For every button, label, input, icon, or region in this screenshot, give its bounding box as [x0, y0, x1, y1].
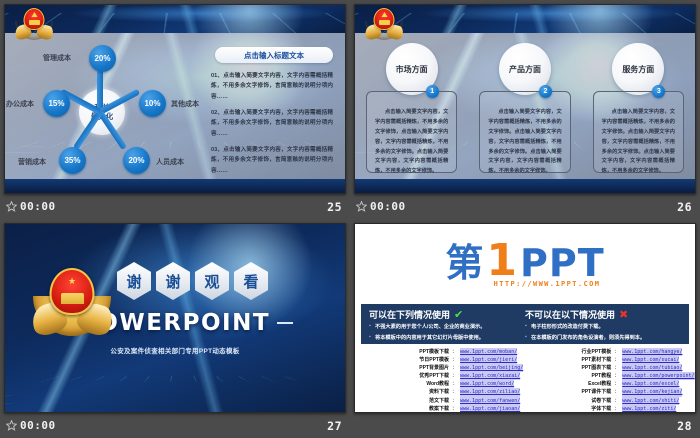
slide-27[interactable]: ★ 谢 谢 观 看 POWERPOINT 公安及案件侦查相关部门专用PPT动态模… — [4, 223, 346, 413]
slide-thumbnail-grid: 利益 最大化 20% 管理成本 10% 其他成本 20% 人员成本 35% 营销… — [0, 0, 700, 438]
link-row[interactable]: 范文下载：www.1ppt.com/fanwen/ — [405, 397, 523, 405]
slide-footer: 00:00 27 — [0, 413, 350, 438]
link-separator: ： — [611, 372, 622, 380]
link-url[interactable]: www.1ppt.com/excel/ — [622, 380, 679, 388]
check-icon: ✔ — [454, 308, 463, 321]
link-row[interactable]: 资料下载：www.1ppt.com/ziliao/ — [405, 388, 523, 396]
column-panel: 点击输入简要文字内容，文字内容需概括精炼，不用多余的文字修饰。点击输入简要文字内… — [479, 91, 570, 173]
link-row[interactable]: 试卷下载：www.1ppt.com/shiti/ — [567, 397, 694, 405]
link-row[interactable]: PPT素材下载：www.1ppt.com/sucai/ — [567, 356, 694, 364]
logo-part-3: PPT — [520, 246, 605, 281]
link-separator: ： — [611, 405, 622, 413]
spoke-top — [97, 70, 103, 112]
denied-heading-row: 不可以在以下情况使用 ✖ — [525, 308, 681, 321]
slide-number: 25 — [327, 200, 342, 214]
link-label: 优秀PPT下载 — [405, 372, 449, 380]
list-item: 将本模板中的内容用于其它幻灯片母版中使用。 — [369, 335, 525, 343]
link-row[interactable]: PPT图表下载：www.1ppt.com/tubiao/ — [567, 364, 694, 372]
link-label: 试卷下载 — [567, 397, 611, 405]
content-paragraph: 02、点击输入简要文字内容，文字内容需概括精炼，不用多余文字修饰，言简意赅的说明… — [211, 108, 333, 139]
slide-number: 27 — [327, 419, 342, 433]
link-row[interactable]: Word教程：www.1ppt.com/word/ — [405, 380, 523, 388]
star-icon: ★ — [68, 277, 76, 286]
link-label: 节日PPT模板 — [405, 356, 449, 364]
slide-28[interactable]: 第 1 PPT HTTP://WWW.1PPT.COM 可以在下列情况使用 ✔ … — [354, 223, 696, 413]
node-label: 营销成本 — [18, 157, 46, 167]
link-label: PPT背景图片 — [405, 364, 449, 372]
site-logo: 第 1 PPT — [355, 242, 695, 281]
slide-cell-28[interactable]: 第 1 PPT HTTP://WWW.1PPT.COM 可以在下列情况使用 ✔ … — [350, 219, 700, 438]
link-label: PPT模板下载 — [405, 348, 449, 356]
node-value[interactable]: 15% — [43, 90, 70, 117]
link-url[interactable]: www.1ppt.com/ziliao/ — [460, 388, 520, 396]
link-url[interactable]: www.1ppt.com/jiaoan/ — [460, 405, 520, 413]
allowed-list: 不强大素的用于您个人/公司、企业的商业演示。 将本模板中的内容用于其它幻灯片母版… — [369, 324, 525, 343]
logo-url: HTTP://WWW.1PPT.COM — [355, 280, 695, 288]
node-value[interactable]: 10% — [139, 90, 166, 117]
node-label: 办公成本 — [6, 99, 34, 109]
column-body: 点击输入简要文字内容，文字内容需概括精炼，不用多余的文字修饰，点击输入简要文字内… — [375, 108, 448, 177]
slide-footer: 00:00 25 — [0, 194, 350, 219]
tech-background — [355, 5, 695, 33]
node-value[interactable]: 35% — [59, 147, 86, 174]
slide-subtitle: 公安及案件侦查相关部门专用PPT动态模板 — [5, 345, 345, 355]
link-url[interactable]: www.1ppt.com/kejian/ — [622, 388, 682, 396]
slide-26[interactable]: 市场方面 1 点击输入简要文字内容，文字内容需概括精炼，不用多余的文字修饰，点击… — [354, 4, 696, 194]
slide-cell-27[interactable]: ★ 谢 谢 观 看 POWERPOINT 公安及案件侦查相关部门专用PPT动态模… — [0, 219, 350, 438]
link-separator: ： — [449, 356, 460, 364]
link-label: PPT图表下载 — [567, 364, 611, 372]
link-row[interactable]: Excel教程：www.1ppt.com/excel/ — [567, 380, 694, 388]
column-3: 服务方面 3 点击输入简要文字内容，文字内容需概括精炼，不用多余的文字修饰。点击… — [582, 39, 695, 175]
hub-spoke-diagram: 利益 最大化 20% 管理成本 10% 其他成本 20% 人员成本 35% 营销… — [11, 37, 211, 187]
timer-label: 00:00 — [20, 419, 56, 432]
timer-label: 00:00 — [370, 200, 406, 213]
link-row[interactable]: PPT背景图片：www.1ppt.com/beijing/ — [405, 364, 523, 372]
link-label: PPT素材下载 — [567, 356, 611, 364]
denied-usage-column: 不可以在以下情况使用 ✖ 电子柱形形式的改造付费下载。 在本模板的门发布的角色设… — [525, 308, 681, 340]
column-2: 产品方面 2 点击输入简要文字内容，文字内容需概括精炼，不用多余的文字修饰。点击… — [468, 39, 581, 175]
column-badge: 1 — [426, 85, 439, 98]
link-separator: ： — [449, 380, 460, 388]
list-item: 不强大素的用于您个人/公司、企业的商业演示。 — [369, 324, 525, 332]
denied-list: 电子柱形形式的改造付费下载。 在本模板的门发布的角色设演者，则须先得到本。 — [525, 324, 681, 343]
column-body: 点击输入简要文字内容，文字内容需概括精炼，不用多余的文字修饰。点击输入简要文字内… — [602, 108, 675, 177]
police-badge-icon — [365, 8, 403, 40]
allowed-usage-column: 可以在下列情况使用 ✔ 不强大素的用于您个人/公司、企业的商业演示。 将本模板中… — [369, 308, 525, 340]
link-row[interactable]: PPT教程：www.1ppt.com/powerpoint/ — [567, 372, 694, 380]
link-separator: ： — [449, 388, 460, 396]
links-left-column: PPT模板下载：www.1ppt.com/moban/ 节日PPT模板：www.… — [361, 348, 523, 404]
link-label: 资料下载 — [405, 388, 449, 396]
link-row[interactable]: 优秀PPT下载：www.1ppt.com/xiazai/ — [405, 372, 523, 380]
slide-footer: 28 — [350, 413, 700, 438]
link-label: Excel教程 — [567, 380, 611, 388]
link-row[interactable]: 字体下载：www.1ppt.com/ziti/ — [567, 405, 694, 413]
star-icon — [356, 201, 367, 212]
link-label: 字体下载 — [567, 405, 611, 413]
slide-number: 26 — [677, 200, 692, 214]
link-separator: ： — [611, 380, 622, 388]
column-badge: 2 — [539, 85, 552, 98]
tech-background — [5, 5, 345, 33]
top-band — [355, 5, 695, 33]
link-label: PPT课件下载 — [567, 388, 611, 396]
link-url[interactable]: www.1ppt.com/word/ — [460, 380, 514, 388]
star-icon — [6, 201, 17, 212]
thank-you-hexagons: 谢 谢 观 看 — [117, 262, 268, 300]
hex-char: 看 — [234, 262, 268, 300]
column-1: 市场方面 1 点击输入简要文字内容，文字内容需概括精炼，不用多余的文字修饰，点击… — [355, 39, 468, 175]
bottom-band — [355, 179, 695, 193]
link-separator: ： — [449, 364, 460, 372]
hex-char: 观 — [195, 262, 229, 300]
link-separator: ： — [611, 388, 622, 396]
node-label: 人员成本 — [156, 157, 184, 167]
link-separator: ： — [449, 397, 460, 405]
link-separator: ： — [449, 405, 460, 413]
content-paragraph: 01、点击输入简要文字内容，文字内容需概括精炼，不用多余文字修饰，言简意赅的说明… — [211, 71, 333, 102]
link-separator: ： — [611, 348, 622, 356]
list-item: 电子柱形形式的改造付费下载。 — [525, 324, 681, 332]
link-url[interactable]: www.1ppt.com/tubiao/ — [622, 364, 682, 372]
content-title[interactable]: 点击输入标题文本 — [215, 47, 333, 63]
link-separator: ： — [449, 348, 460, 356]
slide-25[interactable]: 利益 最大化 20% 管理成本 10% 其他成本 20% 人员成本 35% 营销… — [4, 4, 346, 194]
link-separator: ： — [611, 356, 622, 364]
list-item: 在本模板的门发布的角色设演者，则须先得到本。 — [525, 335, 681, 343]
denied-heading: 不可以在以下情况使用 — [525, 308, 615, 321]
link-row[interactable]: PPT课件下载：www.1ppt.com/kejian/ — [567, 388, 694, 396]
link-row[interactable]: 教案下载：www.1ppt.com/jiaoan/ — [405, 405, 523, 413]
link-url[interactable]: www.1ppt.com/ziti/ — [622, 405, 676, 413]
link-label: Word教程 — [405, 380, 449, 388]
link-separator: ： — [449, 372, 460, 380]
bottom-band — [5, 179, 345, 193]
link-separator: ： — [611, 397, 622, 405]
link-url[interactable]: www.1ppt.com/sucai/ — [622, 356, 679, 364]
link-label: PPT教程 — [567, 372, 611, 380]
dash-right — [277, 322, 293, 324]
link-url[interactable]: www.1ppt.com/beijing/ — [460, 364, 523, 372]
hex-char: 谢 — [117, 262, 151, 300]
link-row[interactable]: 节日PPT模板：www.1ppt.com/jieri/ — [405, 356, 523, 364]
resource-links: PPT模板下载：www.1ppt.com/moban/ 节日PPT模板：www.… — [361, 348, 689, 404]
link-url[interactable]: www.1ppt.com/powerpoint/ — [622, 372, 694, 380]
node-value[interactable]: 20% — [123, 147, 150, 174]
allowed-heading-row: 可以在下列情况使用 ✔ — [369, 308, 525, 321]
top-band — [5, 5, 345, 33]
allowed-heading: 可以在下列情况使用 — [369, 308, 450, 321]
star-icon — [6, 420, 17, 431]
link-label: 教案下载 — [405, 405, 449, 413]
timer-label: 00:00 — [20, 200, 56, 213]
node-value[interactable]: 20% — [89, 45, 116, 72]
usage-terms-banner: 可以在下列情况使用 ✔ 不强大素的用于您个人/公司、企业的商业演示。 将本模板中… — [361, 304, 689, 344]
hex-char: 谢 — [156, 262, 190, 300]
links-right-column: 行业PPT模板：www.1ppt.com/hangye/ PPT素材下载：www… — [523, 348, 694, 404]
link-url[interactable]: www.1ppt.com/jieri/ — [460, 356, 517, 364]
slide-cell-25[interactable]: 利益 最大化 20% 管理成本 10% 其他成本 20% 人员成本 35% 营销… — [0, 0, 350, 219]
three-column-layout: 市场方面 1 点击输入简要文字内容，文字内容需概括精炼，不用多余的文字修饰，点击… — [355, 39, 695, 175]
link-url[interactable]: www.1ppt.com/fanwen/ — [460, 397, 520, 405]
node-label: 管理成本 — [43, 53, 71, 63]
column-panel: 点击输入简要文字内容，文字内容需概括精炼，不用多余的文字修饰。点击输入简要文字内… — [593, 91, 684, 173]
link-label: 行业PPT模板 — [567, 348, 611, 356]
link-url[interactable]: www.1ppt.com/xiazai/ — [460, 372, 520, 380]
column-panel: 点击输入简要文字内容，文字内容需概括精炼，不用多余的文字修饰，点击输入简要文字内… — [366, 91, 457, 173]
slide-number: 28 — [677, 419, 692, 433]
link-row[interactable]: PPT模板下载：www.1ppt.com/moban/ — [405, 348, 523, 356]
link-url[interactable]: www.1ppt.com/hangye/ — [622, 348, 682, 356]
police-badge-icon — [15, 8, 53, 40]
link-separator: ： — [611, 364, 622, 372]
slide-footer: 00:00 26 — [350, 194, 700, 219]
link-url[interactable]: www.1ppt.com/moban/ — [460, 348, 517, 356]
column-body: 点击输入简要文字内容，文字内容需概括精炼，不用多余的文字修饰。点击输入简要文字内… — [488, 108, 561, 177]
logo-part-1: 第 — [445, 246, 484, 281]
node-label: 其他成本 — [171, 99, 199, 109]
cross-icon: ✖ — [619, 308, 628, 321]
link-url[interactable]: www.1ppt.com/shiti/ — [622, 397, 679, 405]
police-badge-icon: ★ — [33, 268, 111, 336]
content-paragraph: 03、点击输入简要文字内容，文字内容需概括精炼，不用多余文字修饰，言简意赅的说明… — [211, 145, 333, 176]
link-label: 范文下载 — [405, 397, 449, 405]
logo-part-2: 1 — [486, 242, 518, 281]
content-paragraph-list: 01、点击输入简要文字内容，文字内容需概括精炼，不用多余文字修饰，言简意赅的说明… — [211, 71, 333, 182]
link-row[interactable]: 行业PPT模板：www.1ppt.com/hangye/ — [567, 348, 694, 356]
slide-cell-26[interactable]: 市场方面 1 点击输入简要文字内容，文字内容需概括精炼，不用多余的文字修饰，点击… — [350, 0, 700, 219]
